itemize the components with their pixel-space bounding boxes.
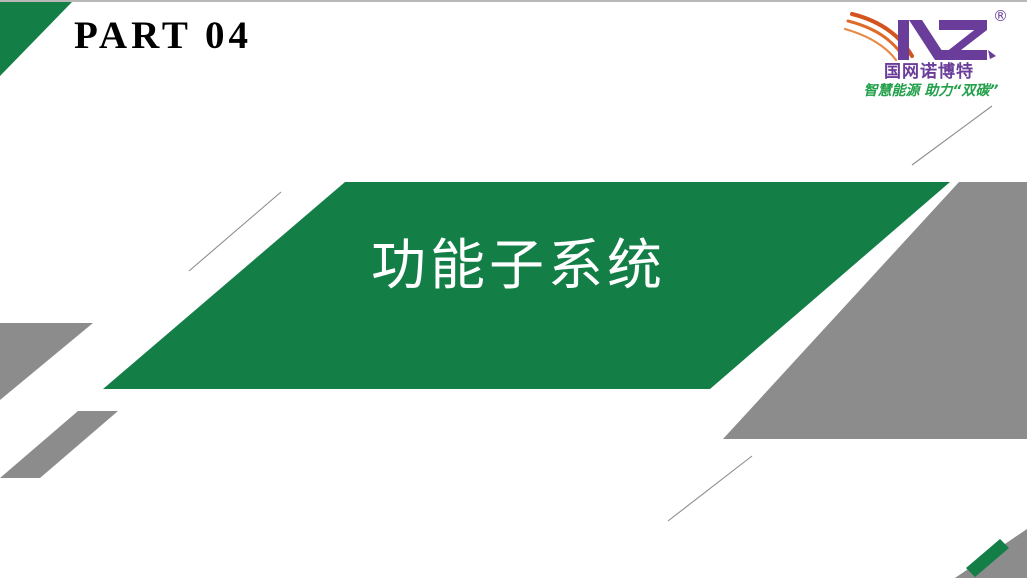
gray-triangle-bottom-left — [0, 323, 93, 400]
gray-stripe-bottom-left — [0, 411, 118, 478]
slide-canvas: PART 04 功能子系统 ® 国网诺博特 智慧能源 助力“双碳” — [0, 0, 1027, 578]
brand-logo: ® 国网诺博特 智慧能源 助力“双碳” — [836, 6, 1022, 106]
logo-company-name: 国网诺博特 — [836, 57, 1022, 82]
green-corner-triangle-top-left — [0, 2, 72, 76]
registered-trademark-icon: ® — [993, 7, 1008, 25]
logo-tagline: 智慧能源 助力“双碳” — [836, 80, 1026, 100]
hairline-bottom — [668, 456, 752, 521]
page-part-label: PART 04 — [74, 15, 252, 58]
hairline-top-right — [912, 106, 992, 165]
page-title: 功能子系统 — [371, 234, 666, 297]
